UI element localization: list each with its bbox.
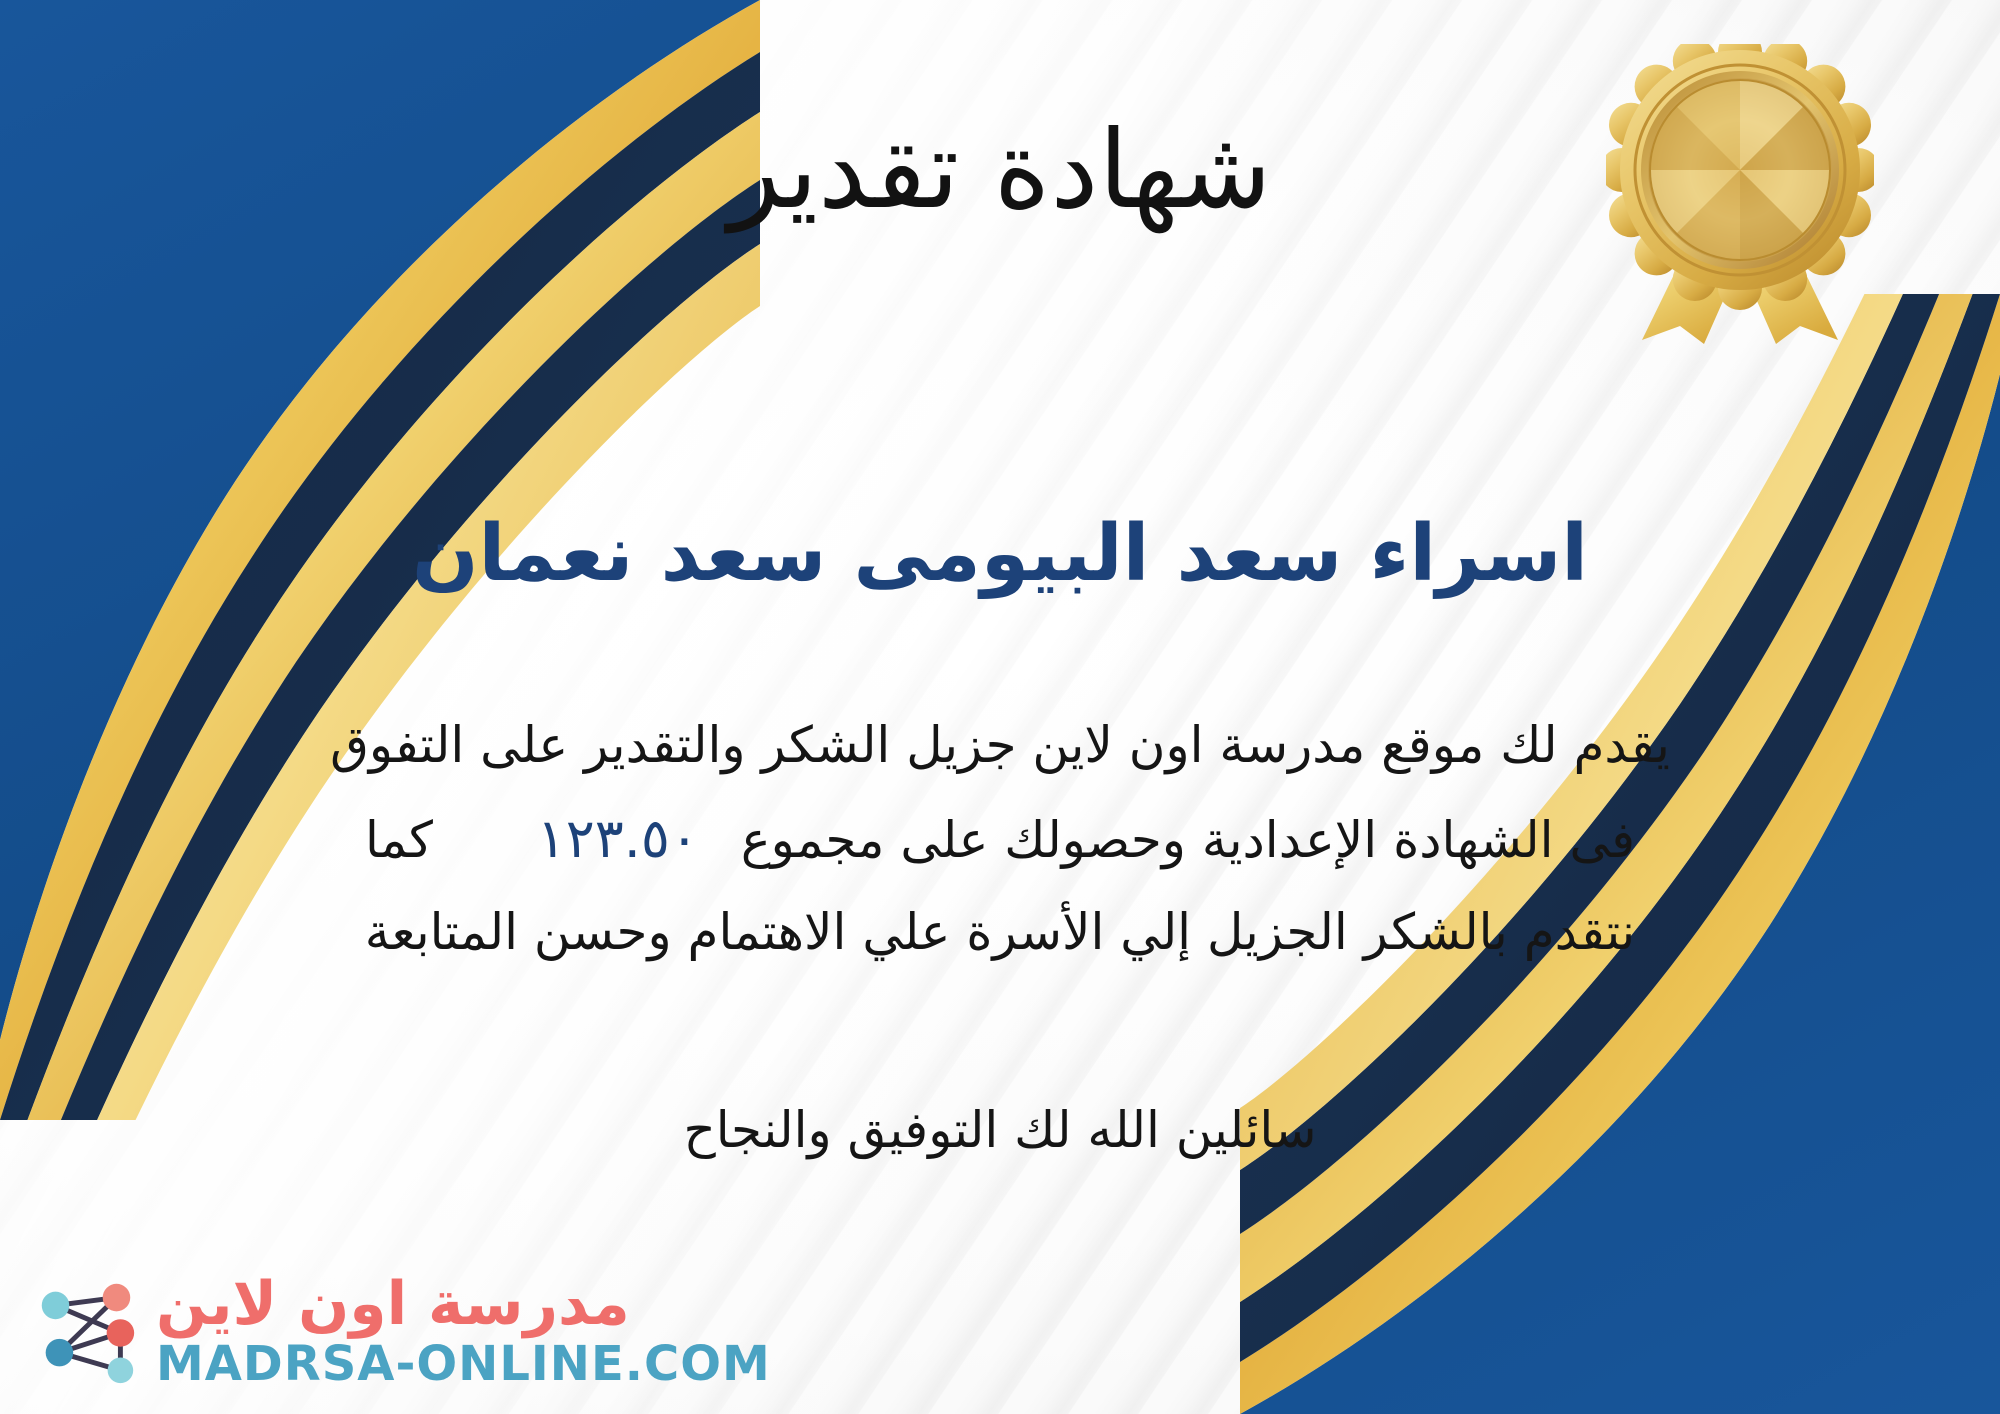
logo-domain: MADRSA-ONLINE.COM — [156, 1340, 771, 1388]
certificate-canvas: شهادة تقدير اسراء سعد البيومى سعد نعمان … — [0, 0, 2000, 1414]
body-line-1: يقدم لك موقع مدرسة اون لاين جزيل الشكر و… — [180, 700, 1820, 790]
body-line-2: فى الشهادة الإعدادية وحصولك على مجموع ١٢… — [180, 790, 1820, 887]
closing-wish: سائلين الله لك التوفيق والنجاح — [0, 1090, 2000, 1170]
total-score-value: ١٢٣.٥٠ — [511, 807, 725, 870]
recipient-name: اسراء سعد البيومى سعد نعمان — [0, 510, 2000, 600]
body-line-3: نتقدم بالشكر الجزيل إلي الأسرة علي الاهت… — [180, 887, 1820, 977]
body-line-2-right: فى الشهادة الإعدادية وحصولك على مجموع — [741, 811, 1635, 869]
logo-text-block: مدرسة اون لاين MADRSA-ONLINE.COM — [156, 1274, 771, 1388]
network-nodes-icon — [26, 1272, 144, 1390]
certificate-title: شهادة تقدير — [0, 112, 2000, 231]
certificate-body: يقدم لك موقع مدرسة اون لاين جزيل الشكر و… — [180, 700, 1820, 977]
body-line-2-left: كما — [365, 811, 433, 869]
logo-arabic-name: مدرسة اون لاين — [156, 1274, 630, 1334]
site-logo[interactable]: مدرسة اون لاين MADRSA-ONLINE.COM — [26, 1272, 771, 1390]
